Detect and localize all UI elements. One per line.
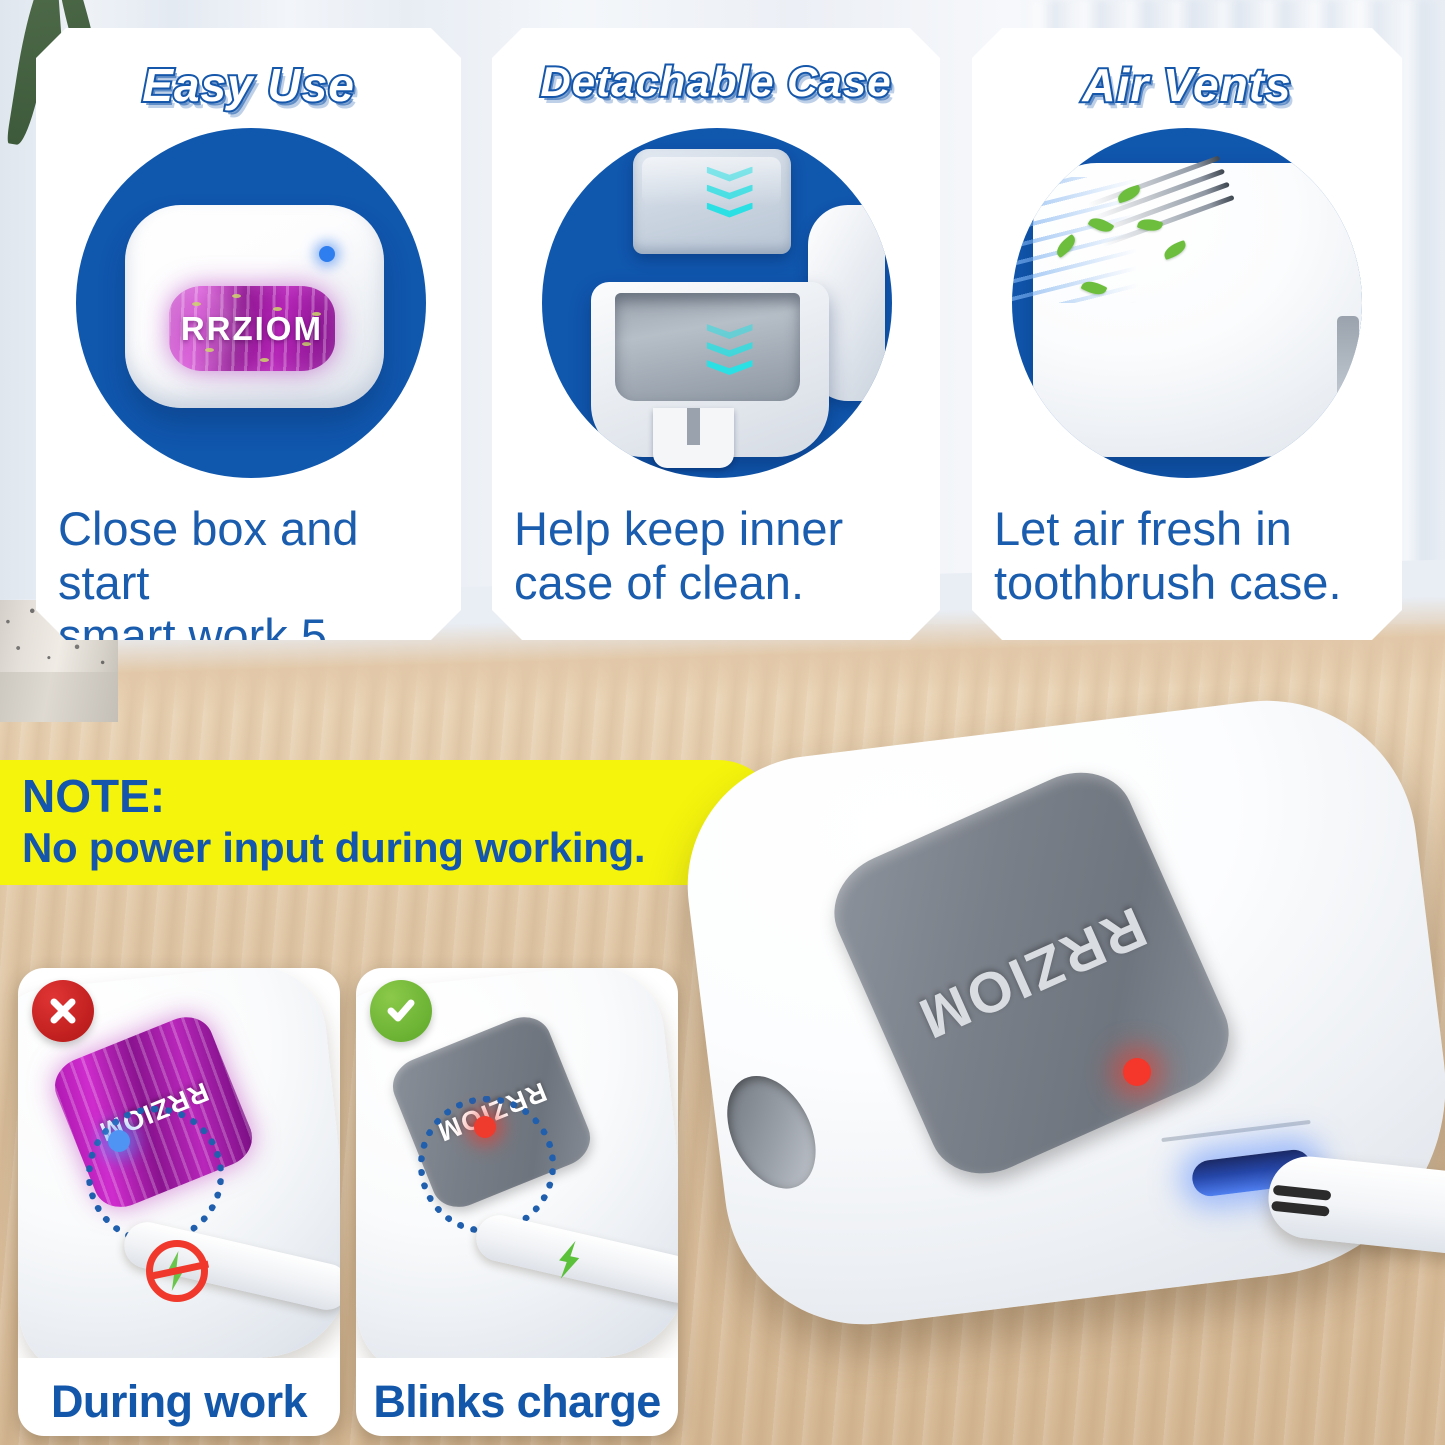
chevron-down-icon bbox=[707, 324, 753, 375]
feature-card-title: Air Vents bbox=[972, 58, 1402, 112]
feature-caption-line2: toothbrush case. bbox=[994, 556, 1380, 610]
detachable-inner-case-icon bbox=[542, 128, 892, 478]
note-text: No power input during working. bbox=[22, 824, 780, 871]
hero-product-image: RRZIOM bbox=[690, 700, 1445, 1350]
feature-caption-line1: Help keep inner bbox=[514, 502, 918, 556]
vent-slit-icon bbox=[1337, 316, 1359, 402]
red-led-icon bbox=[474, 1116, 496, 1138]
note-banner: NOTE: No power input during working. bbox=[0, 760, 780, 885]
feature-caption-line1: Let air fresh in bbox=[994, 502, 1380, 556]
feature-card-title: Detachable Case bbox=[492, 58, 940, 106]
green-check-circle-icon bbox=[370, 980, 432, 1042]
feature-card-detachable-case: Detachable Case Help keep inner case of … bbox=[492, 28, 940, 640]
state-card-caption: Blinks charge bbox=[356, 1376, 678, 1428]
blue-led-icon bbox=[319, 246, 335, 262]
red-x-circle-icon bbox=[32, 980, 94, 1042]
badge-label: RRZIOM bbox=[169, 286, 335, 371]
air-vent-flow-icon bbox=[1012, 128, 1362, 478]
red-led-icon bbox=[1123, 1058, 1151, 1086]
feature-caption-line2: case of clean. bbox=[514, 556, 918, 610]
state-card-blinks-charge: RRZIOM Blinks charge bbox=[356, 968, 678, 1436]
plant-pot-base bbox=[0, 672, 118, 722]
feature-card-easy-use: Easy Use RRZIOM Close box and start smar… bbox=[36, 28, 461, 640]
state-card-caption: During work bbox=[18, 1376, 340, 1428]
note-kicker: NOTE: bbox=[22, 772, 780, 820]
uv-sanitizer-closed-icon: RRZIOM bbox=[76, 128, 426, 478]
chevron-down-icon bbox=[707, 167, 753, 218]
feature-card-air-vents: Air Vents Let air fresh in toothbrush ca… bbox=[972, 28, 1402, 640]
feature-card-title: Easy Use bbox=[36, 58, 461, 112]
hero-drain-hole bbox=[709, 1061, 833, 1203]
state-card-during-work: RRZIOM During work bbox=[18, 968, 340, 1436]
brush-holder bbox=[653, 408, 734, 468]
blue-led-icon bbox=[108, 1130, 130, 1152]
feature-caption-line1: Close box and start bbox=[58, 502, 439, 609]
no-charging-icon bbox=[146, 1240, 208, 1302]
uv-badge: RRZIOM bbox=[169, 286, 335, 371]
